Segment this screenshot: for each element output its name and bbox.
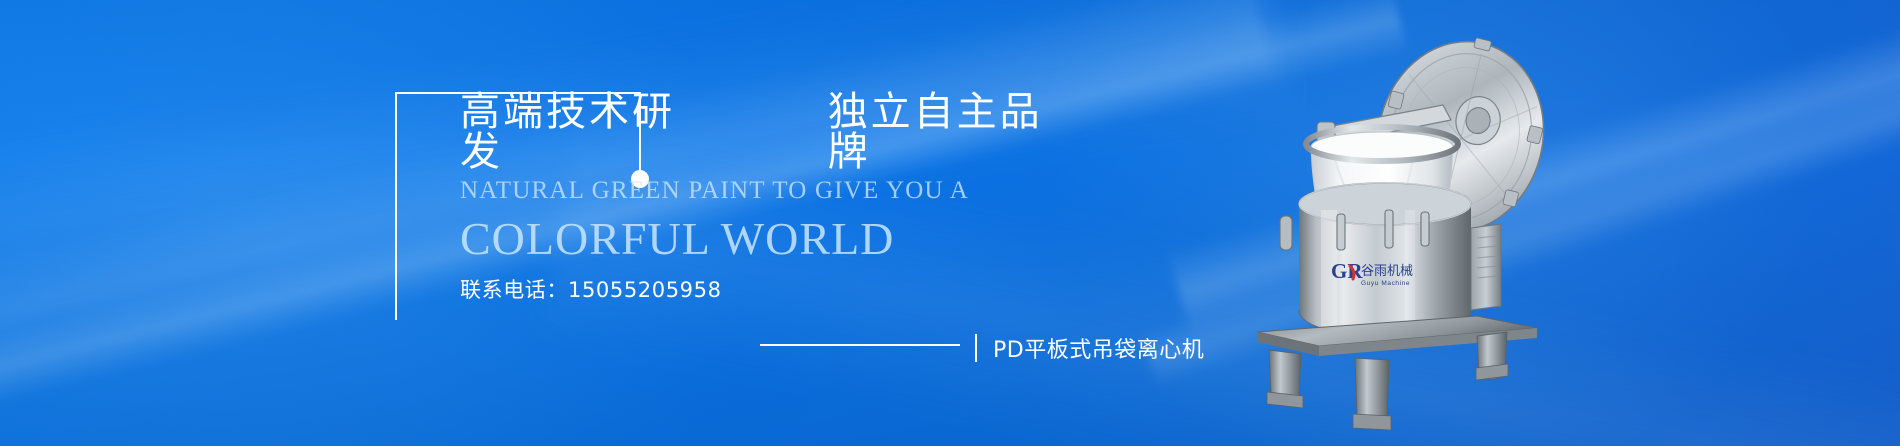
headline-row: 高端技术研发 独立自主品牌: [460, 104, 1080, 160]
machine-drum-body: [1299, 183, 1471, 336]
machine-control-box: [1471, 224, 1501, 310]
svg-text:GR: GR: [1331, 259, 1363, 283]
subheadline-english: NATURAL GREEN PAINT TO GIVE YOU A: [460, 178, 1080, 203]
contact-phone[interactable]: 联系电话：15055205958: [460, 280, 1080, 301]
machine-brand-logo: GR 谷雨机械 Guyu Machine: [1331, 259, 1413, 287]
promo-banner: 高端技术研发 独立自主品牌 NATURAL GREEN PAINT TO GIV…: [0, 0, 1900, 446]
tagline-english: COLORFUL WORLD: [460, 216, 1080, 262]
headline-primary: 高端技术研发: [460, 92, 712, 172]
caption-tick-bar: [975, 334, 977, 362]
bracket-left-rule: [395, 92, 397, 320]
svg-text:Guyu Machine: Guyu Machine: [1361, 280, 1410, 287]
product-name-label: PD平板式吊袋离心机: [993, 332, 1204, 364]
svg-text:谷雨机械: 谷雨机械: [1361, 264, 1413, 279]
product-caption-group: PD平板式吊袋离心机: [975, 332, 1204, 364]
caption-lead-rule: [760, 344, 960, 346]
headline-secondary: 独立自主品牌: [828, 92, 1080, 172]
headline-copy-block: 高端技术研发 独立自主品牌 NATURAL GREEN PAINT TO GIV…: [460, 104, 1080, 301]
centrifuge-machine-image: GR 谷雨机械 Guyu Machine: [1255, 10, 1615, 440]
